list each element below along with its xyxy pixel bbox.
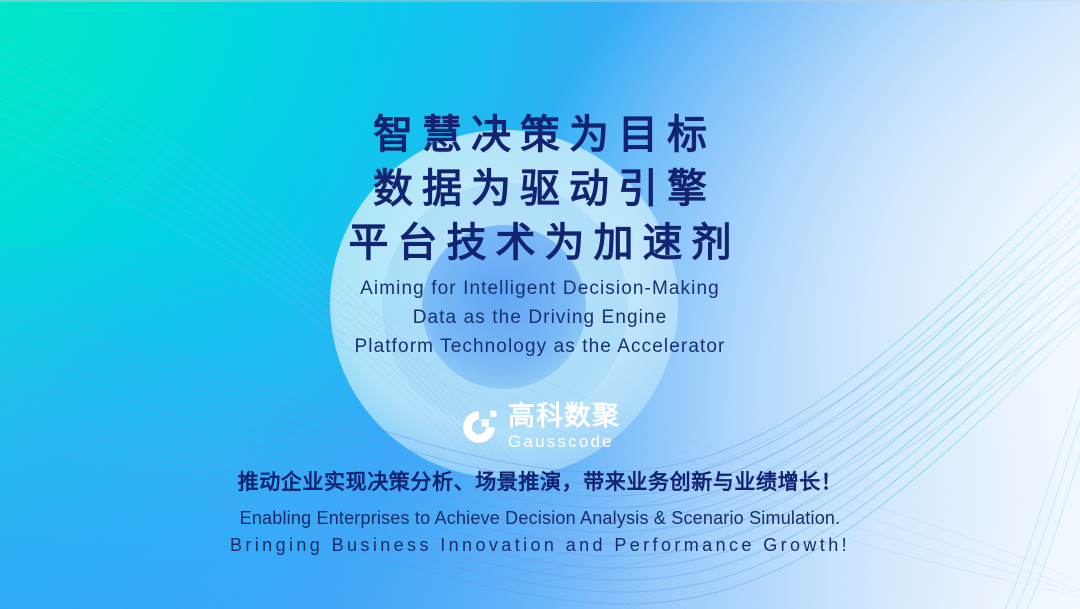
brand-name-english: Gausscode	[508, 433, 620, 450]
tagline-english: Enabling Enterprises to Achieve Decision…	[230, 505, 850, 559]
top-edge-divider	[0, 0, 1080, 2]
brand-wordmark: 高科数聚 Gausscode	[508, 403, 620, 450]
subhead-line-3: Platform Technology as the Accelerator	[355, 332, 726, 361]
headline-chinese: 智慧决策为目标 数据为驱动引擎 平台技术为加速剂	[340, 108, 741, 270]
tagline-english-line-2: Bringing Business Innovation and Perform…	[230, 532, 850, 559]
tagline-chinese: 推动企业实现决策分析、场景推演，带来业务创新与业绩增长！	[238, 466, 843, 496]
subhead-line-2: Data as the Driving Engine	[355, 303, 726, 332]
headline-line-3: 平台技术为加速剂	[340, 216, 741, 270]
subhead-english: Aiming for Intelligent Decision-Making D…	[355, 274, 726, 361]
brand-name-chinese: 高科数聚	[508, 403, 620, 430]
gausscode-ring-icon	[460, 408, 498, 446]
poster-canvas: 智慧决策为目标 数据为驱动引擎 平台技术为加速剂 Aiming for Inte…	[0, 0, 1080, 609]
headline-line-2: 数据为驱动引擎	[340, 162, 741, 216]
poster-content: 智慧决策为目标 数据为驱动引擎 平台技术为加速剂 Aiming for Inte…	[0, 0, 1080, 609]
brand-logo: 高科数聚 Gausscode	[460, 403, 620, 450]
subhead-line-1: Aiming for Intelligent Decision-Making	[355, 274, 726, 303]
headline-line-1: 智慧决策为目标	[340, 108, 741, 162]
tagline-english-line-1: Enabling Enterprises to Achieve Decision…	[230, 505, 850, 532]
